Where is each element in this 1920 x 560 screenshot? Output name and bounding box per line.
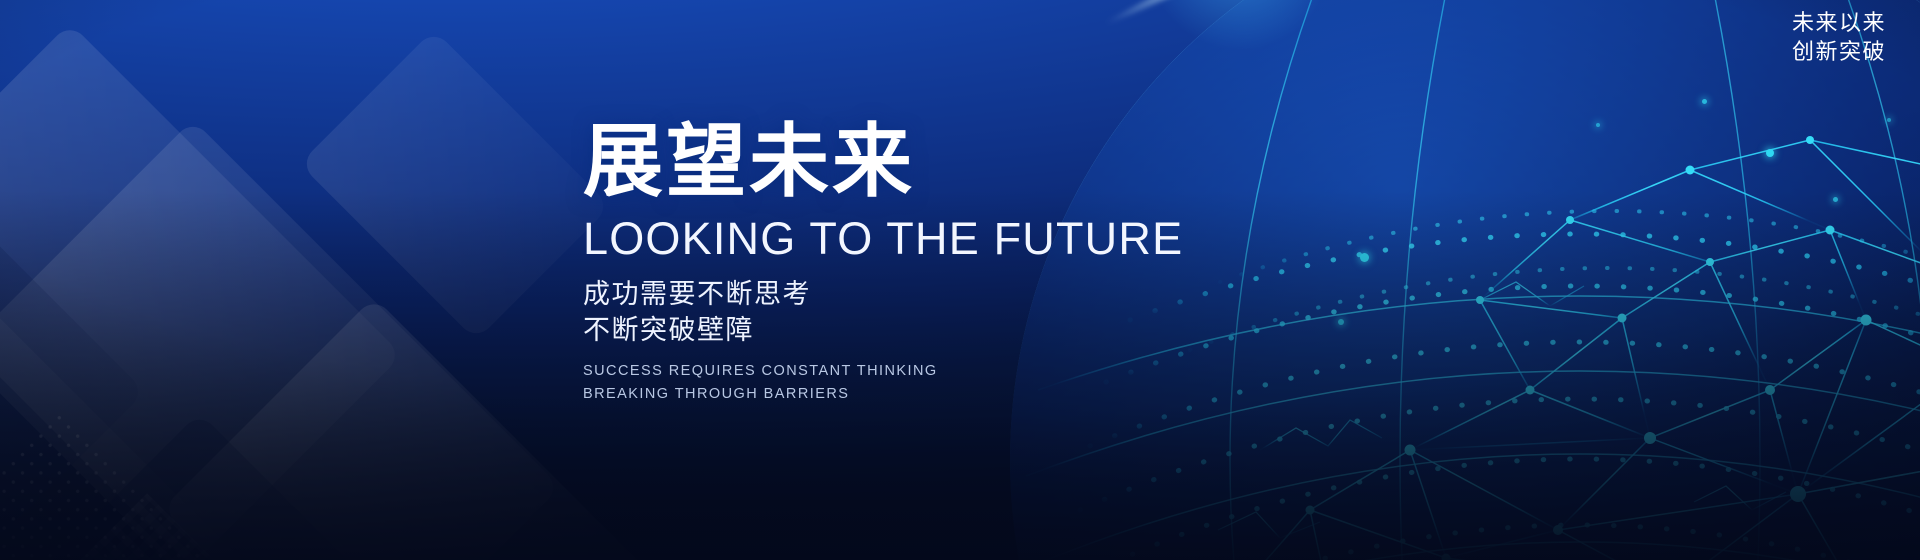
accent-dot — [1766, 149, 1774, 157]
headline-chinese: 展望未来 — [583, 122, 1303, 202]
tagline-english-line: BREAKING THROUGH BARRIERS — [583, 383, 1303, 406]
accent-dot — [1338, 319, 1344, 325]
hero-banner: 展望未来 LOOKING TO THE FUTURE 成功需要不断思考 不断突破… — [0, 0, 1920, 560]
accent-dot — [1596, 123, 1600, 127]
tagline-english: SUCCESS REQUIRES CONSTANT THINKING BREAK… — [583, 360, 1303, 407]
accent-dot — [1887, 118, 1891, 122]
accent-dot — [1702, 99, 1707, 104]
corner-slogan-line: 未来以来 — [1792, 8, 1886, 37]
globe-lens-flare — [1135, 0, 1345, 63]
tagline-chinese: 成功需要不断思考 不断突破壁障 — [583, 277, 1303, 349]
corner-slogan-line: 创新突破 — [1792, 37, 1886, 66]
tagline-english-line: SUCCESS REQUIRES CONSTANT THINKING — [583, 360, 1303, 383]
corner-slogan: 未来以来 创新突破 — [1792, 8, 1886, 67]
hero-copy: 展望未来 LOOKING TO THE FUTURE 成功需要不断思考 不断突破… — [583, 122, 1303, 407]
accent-dot — [1360, 253, 1369, 262]
headline-english: LOOKING TO THE FUTURE — [583, 216, 1303, 261]
tagline-chinese-line: 成功需要不断思考 — [583, 277, 1303, 313]
accent-dot — [1833, 197, 1838, 202]
tagline-chinese-line: 不断突破壁障 — [583, 313, 1303, 349]
